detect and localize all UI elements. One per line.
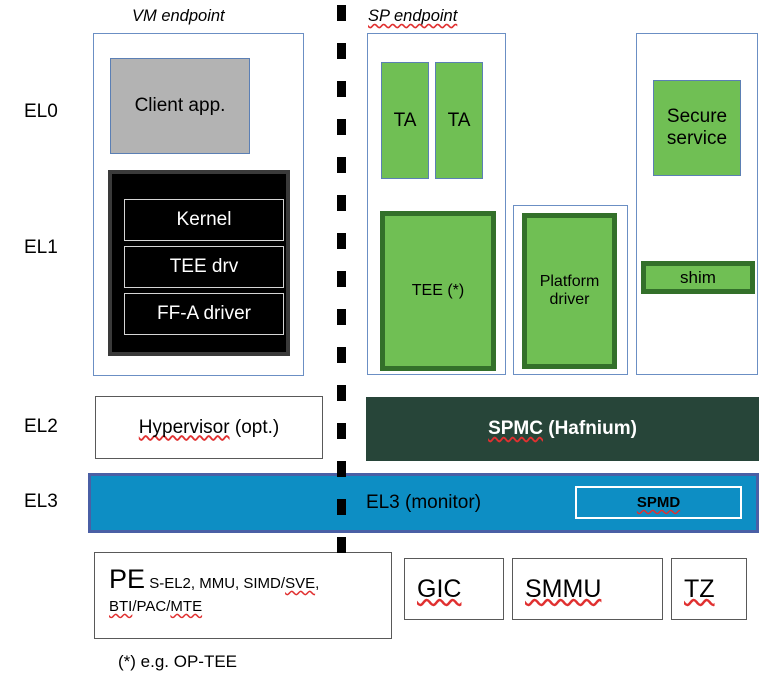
pe-features-line2: BTI/PAC/MTE: [109, 598, 202, 615]
tee-drv-label: TEE drv: [170, 256, 239, 278]
divider-dash: [337, 233, 346, 249]
divider-dash: [337, 43, 346, 59]
kernel-label: Kernel: [177, 209, 232, 231]
divider-dash: [337, 157, 346, 173]
ffa-architecture-diagram: VM endpoint SP endpoint EL0 EL1 EL2 EL3 …: [0, 0, 784, 686]
divider-dash: [337, 309, 346, 325]
kernel-box[interactable]: Kernel: [124, 199, 284, 241]
shim-box[interactable]: shim: [641, 261, 755, 294]
security-boundary-divider: [337, 0, 346, 580]
tz-label: TZ: [684, 575, 715, 604]
divider-dash: [337, 81, 346, 97]
spmd-label: SPMD: [637, 494, 680, 511]
ffa-driver-label: FF-A driver: [157, 303, 251, 325]
ta-box-2[interactable]: TA: [435, 62, 483, 179]
pe-features-line1: S-EL2, MMU, SIMD/SVE,: [145, 575, 319, 592]
divider-dash: [337, 347, 346, 363]
divider-dash: [337, 385, 346, 401]
spmc-box[interactable]: SPMC (Hafnium): [366, 397, 759, 461]
secure-service-box[interactable]: Secure service: [653, 80, 741, 176]
hypervisor-box[interactable]: Hypervisor (opt.): [95, 396, 323, 459]
divider-dash: [337, 5, 346, 21]
spmc-label: SPMC (Hafnium): [488, 418, 637, 440]
client-app-label: Client app.: [135, 95, 226, 117]
spmd-box[interactable]: SPMD: [575, 486, 742, 519]
platform-driver-label: Platform driver: [527, 273, 612, 310]
divider-dash: [337, 499, 346, 515]
el-label-el2: EL2: [24, 416, 58, 438]
el-label-el1: EL1: [24, 237, 58, 259]
divider-dash: [337, 461, 346, 477]
ffa-driver-box[interactable]: FF-A driver: [124, 293, 284, 335]
smmu-label: SMMU: [525, 575, 601, 604]
ta-label-2: TA: [448, 110, 471, 132]
divider-dash: [337, 423, 346, 439]
hypervisor-label: Hypervisor (opt.): [139, 417, 279, 439]
tz-box[interactable]: TZ: [671, 558, 747, 620]
pe-box[interactable]: PE S-EL2, MMU, SIMD/SVE, BTI/PAC/MTE: [94, 552, 392, 639]
footnote-label: (*) e.g. OP-TEE: [118, 652, 237, 672]
secure-service-label: Secure service: [654, 106, 740, 150]
tee-box[interactable]: TEE (*): [380, 211, 496, 371]
el-label-el0: EL0: [24, 101, 58, 123]
ta-box-1[interactable]: TA: [381, 62, 429, 179]
tee-drv-box[interactable]: TEE drv: [124, 246, 284, 288]
ta-label-1: TA: [394, 110, 417, 132]
kernel-stack-box: Kernel TEE drv FF-A driver: [108, 170, 290, 356]
gic-box[interactable]: GIC: [404, 558, 504, 620]
divider-dash: [337, 271, 346, 287]
pe-name-label: PE: [109, 564, 145, 594]
el-label-el3: EL3: [24, 491, 58, 513]
shim-label: shim: [680, 268, 716, 288]
vm-endpoint-title: VM endpoint: [132, 7, 225, 26]
el3-monitor-label: EL3 (monitor): [366, 492, 481, 514]
divider-dash: [337, 195, 346, 211]
tee-label: TEE (*): [412, 282, 464, 300]
divider-dash: [337, 537, 346, 553]
smmu-box[interactable]: SMMU: [512, 558, 663, 620]
platform-driver-box[interactable]: Platform driver: [522, 213, 617, 369]
client-app-box[interactable]: Client app.: [110, 58, 250, 154]
gic-label: GIC: [417, 575, 461, 604]
divider-dash: [337, 119, 346, 135]
sp-endpoint-title: SP endpoint: [368, 7, 457, 26]
